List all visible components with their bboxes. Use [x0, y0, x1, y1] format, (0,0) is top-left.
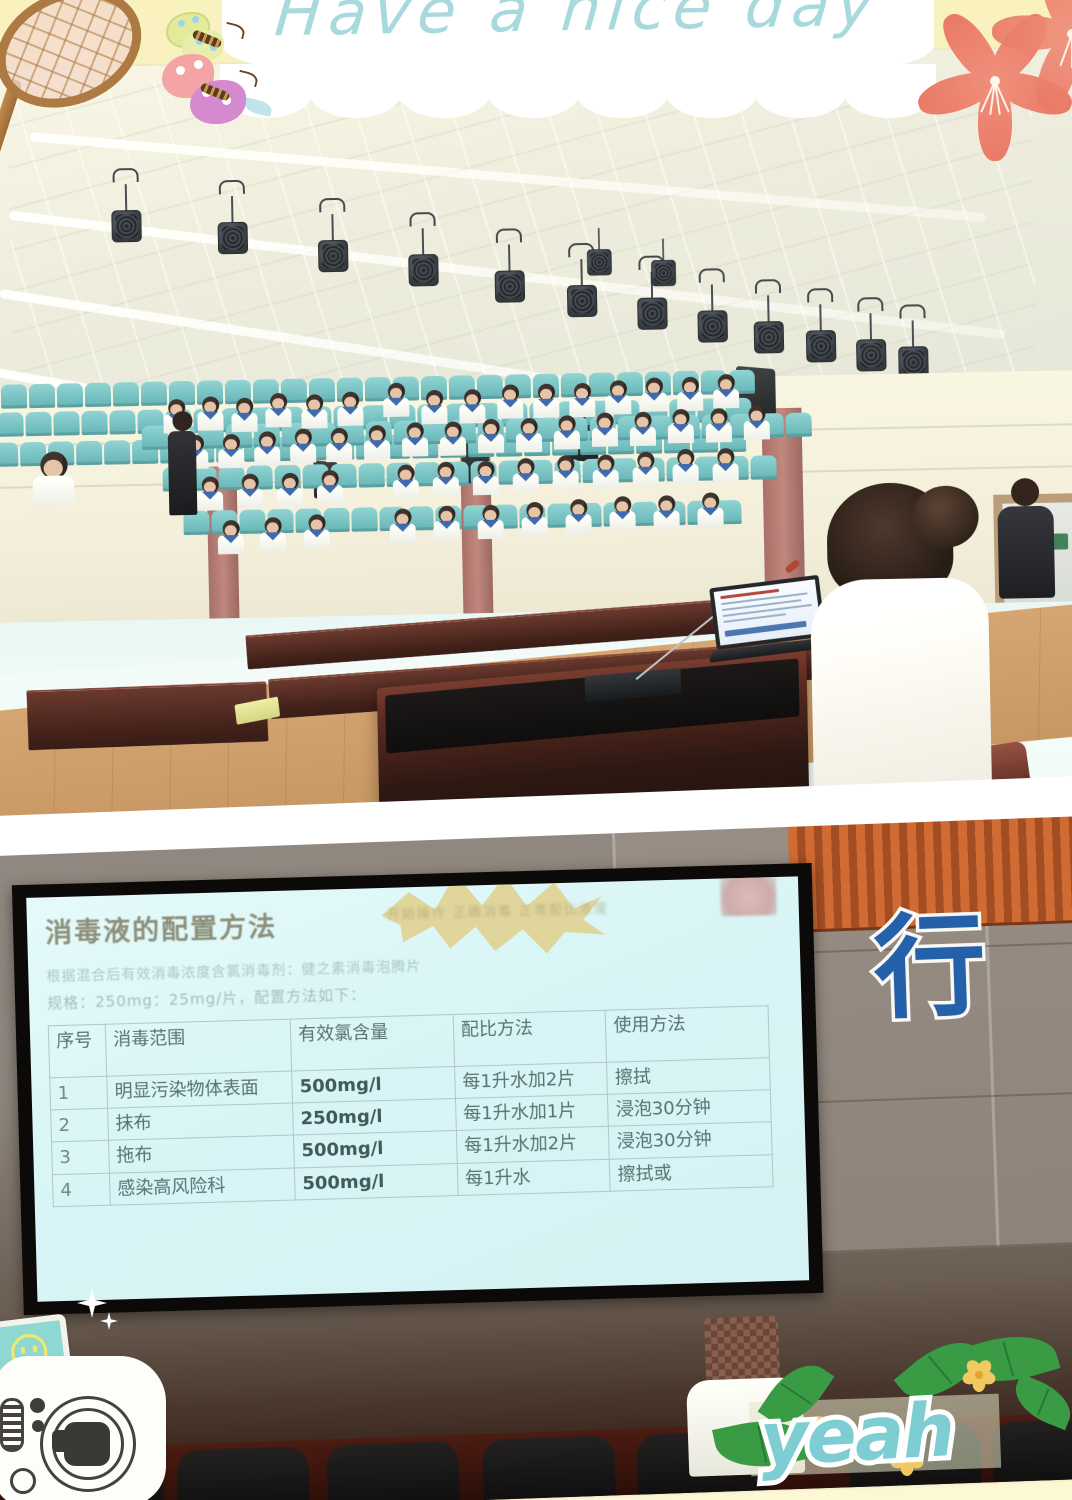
cell-index: 4: [52, 1173, 110, 1207]
cell-scope: 拖布: [108, 1136, 294, 1173]
sparkle-icon: [100, 1312, 118, 1330]
stage-light: [586, 228, 612, 276]
assistant-person: [993, 478, 1059, 599]
stage-light: [317, 214, 348, 273]
scrapbook-collage: 行 消毒液的配置方法 开始操作 正确消毒 正常配比浓度 根据混合后有效消毒浓度含…: [0, 0, 1072, 1500]
cell-chlorine: 500mg/l: [294, 1163, 458, 1200]
flower-icon: [964, 1360, 994, 1390]
cell-index: 2: [51, 1108, 109, 1142]
stage-light: [697, 284, 728, 343]
cell-index: 3: [52, 1141, 110, 1175]
cell-scope: 感染高风险科: [109, 1168, 295, 1205]
column-header: 配比方法: [453, 1010, 607, 1066]
yeah-text: yeah: [758, 1387, 955, 1483]
column-header: 有效氯含量: [290, 1015, 454, 1072]
standing-attendee: [167, 411, 199, 522]
presenter-speaker: [808, 481, 995, 815]
stage-light: [753, 295, 784, 354]
instant-camera-icon: [0, 1318, 172, 1500]
conference-chair: [482, 1435, 617, 1500]
cell-usage: 擦拭或: [610, 1154, 774, 1191]
cell-ratio: 每1升水加1片: [455, 1094, 608, 1130]
stage-light: [494, 244, 525, 303]
conference-chair: [992, 1418, 1072, 1500]
slide-stamp-image: [720, 876, 777, 916]
cell-ratio: 每1升水加2片: [456, 1127, 609, 1163]
row-desk: [26, 681, 268, 750]
disinfectant-table: 序号 消毒范围 有效氯含量 配比方法 使用方法 1 明显污染物体表面: [48, 1005, 774, 1207]
butterfly-icon: [162, 54, 268, 136]
cell-ratio: 每1升水加2片: [454, 1062, 607, 1098]
cell-ratio: 每1升水: [457, 1159, 610, 1195]
scallop-edge: [222, 64, 934, 118]
cell-usage: 浸泡30分钟: [609, 1122, 773, 1159]
cell-scope: 明显污染物体表面: [107, 1071, 293, 1108]
greeting-banner: Have a nice day: [222, 0, 934, 92]
cell-chlorine: 250mg/l: [293, 1099, 457, 1136]
cell-chlorine: 500mg/l: [292, 1067, 456, 1104]
cell-scope: 抹布: [108, 1103, 294, 1140]
cell-usage: 擦拭: [607, 1058, 771, 1095]
conference-chair: [326, 1441, 461, 1500]
slide-content: 消毒液的配置方法 开始操作 正确消毒 正常配比浓度 根据混合后有效消毒浓度含氯消…: [26, 876, 809, 1301]
column-header: 序号: [48, 1024, 106, 1078]
wall-character: 行: [872, 910, 988, 1026]
cell-usage: 浸泡30分钟: [608, 1090, 772, 1127]
stage-light: [408, 228, 439, 287]
stage-light: [805, 304, 836, 363]
cell-index: 1: [50, 1076, 108, 1110]
lily-flower-icon: [1008, 0, 1072, 98]
stage-light: [651, 238, 677, 286]
column-header: 使用方法: [606, 1006, 770, 1063]
flash-icon: [0, 1398, 24, 1452]
stage-light: [217, 196, 248, 255]
projection-screen: 消毒液的配置方法 开始操作 正确消毒 正常配比浓度 根据混合后有效消毒浓度含氯消…: [12, 863, 824, 1315]
conference-chair: [176, 1446, 311, 1500]
column-header: 消毒范围: [105, 1019, 292, 1076]
cell-chlorine: 500mg/l: [294, 1131, 458, 1168]
